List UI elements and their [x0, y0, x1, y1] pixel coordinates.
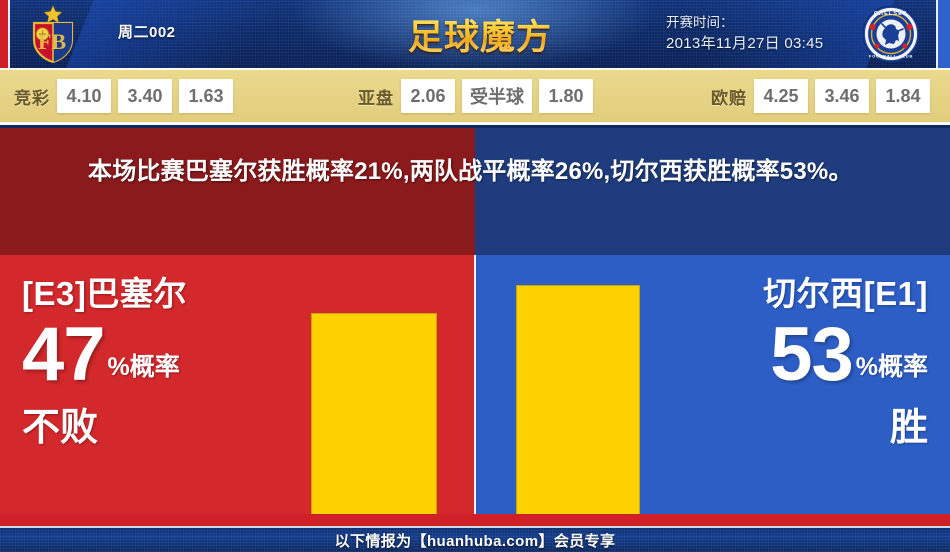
- odds-cell-home[interactable]: 4.10: [57, 79, 111, 113]
- kickoff-info: 开赛时间： 2013年11月27日 03:45: [666, 12, 823, 54]
- odds-group-jingcai: 竞彩 4.10 3.40 1.63: [14, 79, 233, 113]
- away-team-name: 切尔西[E1]: [763, 274, 928, 314]
- odds-group-label: 竞彩: [14, 84, 50, 109]
- odds-cell-handicap[interactable]: 受半球: [462, 79, 532, 113]
- odds-group-label: 欧赔: [711, 84, 747, 109]
- home-team-panel: [E3]巴塞尔 47 %概率 不败: [0, 255, 474, 514]
- basel-crest-icon: FB: [22, 4, 84, 64]
- site-logo-text: 足球魔方: [408, 9, 552, 60]
- home-team-name: [E3]巴塞尔: [22, 274, 187, 314]
- home-percent-row: 47 %概率: [22, 317, 187, 393]
- away-percent-value: 53: [770, 317, 853, 393]
- odds-cell-home[interactable]: 2.06: [401, 79, 455, 113]
- home-verdict: 不败: [22, 405, 187, 451]
- svg-text:FOOTBALL CLUB: FOOTBALL CLUB: [869, 54, 913, 59]
- odds-group-yapan: 亚盘 2.06 受半球 1.80: [358, 79, 593, 113]
- probability-panels: [E3]巴塞尔 47 %概率 不败 切尔西[E1] 53 %概率 胜: [0, 255, 950, 514]
- odds-cell-away[interactable]: 1.84: [876, 79, 930, 113]
- odds-cell-draw[interactable]: 3.40: [118, 79, 172, 113]
- odds-cell-away[interactable]: 1.63: [179, 79, 233, 113]
- site-logo[interactable]: 足球魔方: [395, 8, 565, 60]
- summary-text: 本场比赛巴塞尔获胜概率21%,两队战平概率26%,切尔西获胜概率53%。: [88, 152, 878, 192]
- chelsea-crest-icon: CHELSEA FOOTBALL CLUB: [862, 5, 920, 63]
- home-percent-value: 47: [22, 317, 105, 393]
- odds-cell-home[interactable]: 4.25: [754, 79, 808, 113]
- odds-bar: 竞彩 4.10 3.40 1.63 亚盘 2.06 受半球 1.80 欧赔 4.…: [0, 68, 950, 125]
- away-probability-bar: [516, 285, 640, 515]
- away-percent-suffix: %概率: [853, 350, 928, 393]
- svg-text:FB: FB: [38, 29, 66, 54]
- away-percent-row: 53 %概率: [763, 317, 928, 393]
- header-diagonal-left: [66, 0, 333, 68]
- home-percent-suffix: %概率: [105, 350, 180, 393]
- header-right-blue-edge: [938, 0, 950, 68]
- odds-cell-draw[interactable]: 3.46: [815, 79, 869, 113]
- away-team-panel: 切尔西[E1] 53 %概率 胜: [476, 255, 950, 514]
- odds-cell-away[interactable]: 1.80: [539, 79, 593, 113]
- svg-text:CHELSEA: CHELSEA: [874, 11, 908, 17]
- footer-red-strip: [0, 514, 950, 526]
- home-team-info: [E3]巴塞尔 47 %概率 不败: [22, 274, 187, 451]
- match-number: 周二002: [118, 21, 176, 42]
- home-probability-bar: [311, 313, 437, 515]
- odds-group-label: 亚盘: [358, 84, 394, 109]
- odds-group-oupei: 欧赔 4.25 3.46 1.84: [711, 79, 930, 113]
- match-preview-graphic: FB CHELSEA FOOTBALL CLUB 周二002 足球魔方 开赛时间…: [0, 0, 950, 552]
- footer-bar: 以下情报为【huanhuba.com】会员专享: [0, 526, 950, 552]
- footer-text: 以下情报为【huanhuba.com】会员专享: [335, 530, 616, 551]
- kickoff-label: 开赛时间：: [666, 12, 823, 33]
- away-verdict: 胜: [763, 405, 928, 451]
- kickoff-time: 2013年11月27日 03:45: [666, 33, 823, 54]
- away-team-info: 切尔西[E1] 53 %概率 胜: [763, 274, 928, 451]
- header-left-red-edge: [0, 0, 8, 68]
